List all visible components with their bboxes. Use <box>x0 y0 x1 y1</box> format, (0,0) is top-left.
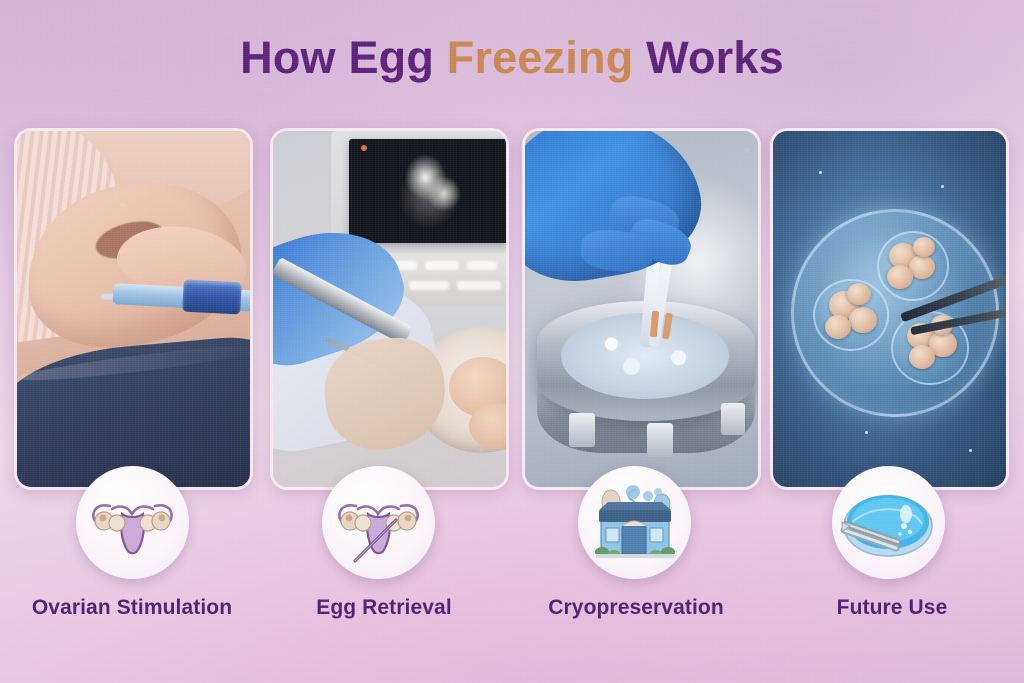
step-card-egg-retrieval[interactable] <box>270 128 509 490</box>
title-part-3: Works <box>633 32 783 83</box>
badge-future-use[interactable] <box>832 466 945 579</box>
title-part-2: Freezing <box>447 32 634 83</box>
step-label-ovarian-stimulation: Ovarian Stimulation <box>4 596 260 620</box>
badge-cryopreservation[interactable] <box>578 466 691 579</box>
photo-hormone-injection <box>17 131 250 487</box>
step-card-cryopreservation[interactable] <box>522 128 761 490</box>
photo-petri-dish-embryos <box>773 131 1006 487</box>
step-label-future-use: Future Use <box>764 596 1020 620</box>
petri-dish-tweezers-icon <box>832 466 945 579</box>
page-title: How Egg Freezing Works <box>0 33 1024 83</box>
step-labels-row: Ovarian Stimulation Egg Retrieval Cryopr… <box>0 596 1024 630</box>
photo-ultrasound-retrieval <box>273 131 506 487</box>
badge-ovarian-stimulation[interactable] <box>76 466 189 579</box>
uterus-needle-icon <box>322 466 435 579</box>
uterus-ovaries-icon <box>76 466 189 579</box>
steps-photo-row <box>14 128 1010 490</box>
fertility-clinic-building-icon <box>578 466 691 579</box>
step-card-ovarian-stimulation[interactable] <box>14 128 253 490</box>
title-part-1: How Egg <box>240 32 447 83</box>
step-label-cryopreservation: Cryopreservation <box>508 596 764 620</box>
step-card-future-use[interactable] <box>770 128 1009 490</box>
badge-egg-retrieval[interactable] <box>322 466 435 579</box>
photo-cryo-tank <box>525 131 758 487</box>
infographic-poster: How Egg Freezing Works <box>0 0 1024 683</box>
step-label-egg-retrieval: Egg Retrieval <box>256 596 512 620</box>
